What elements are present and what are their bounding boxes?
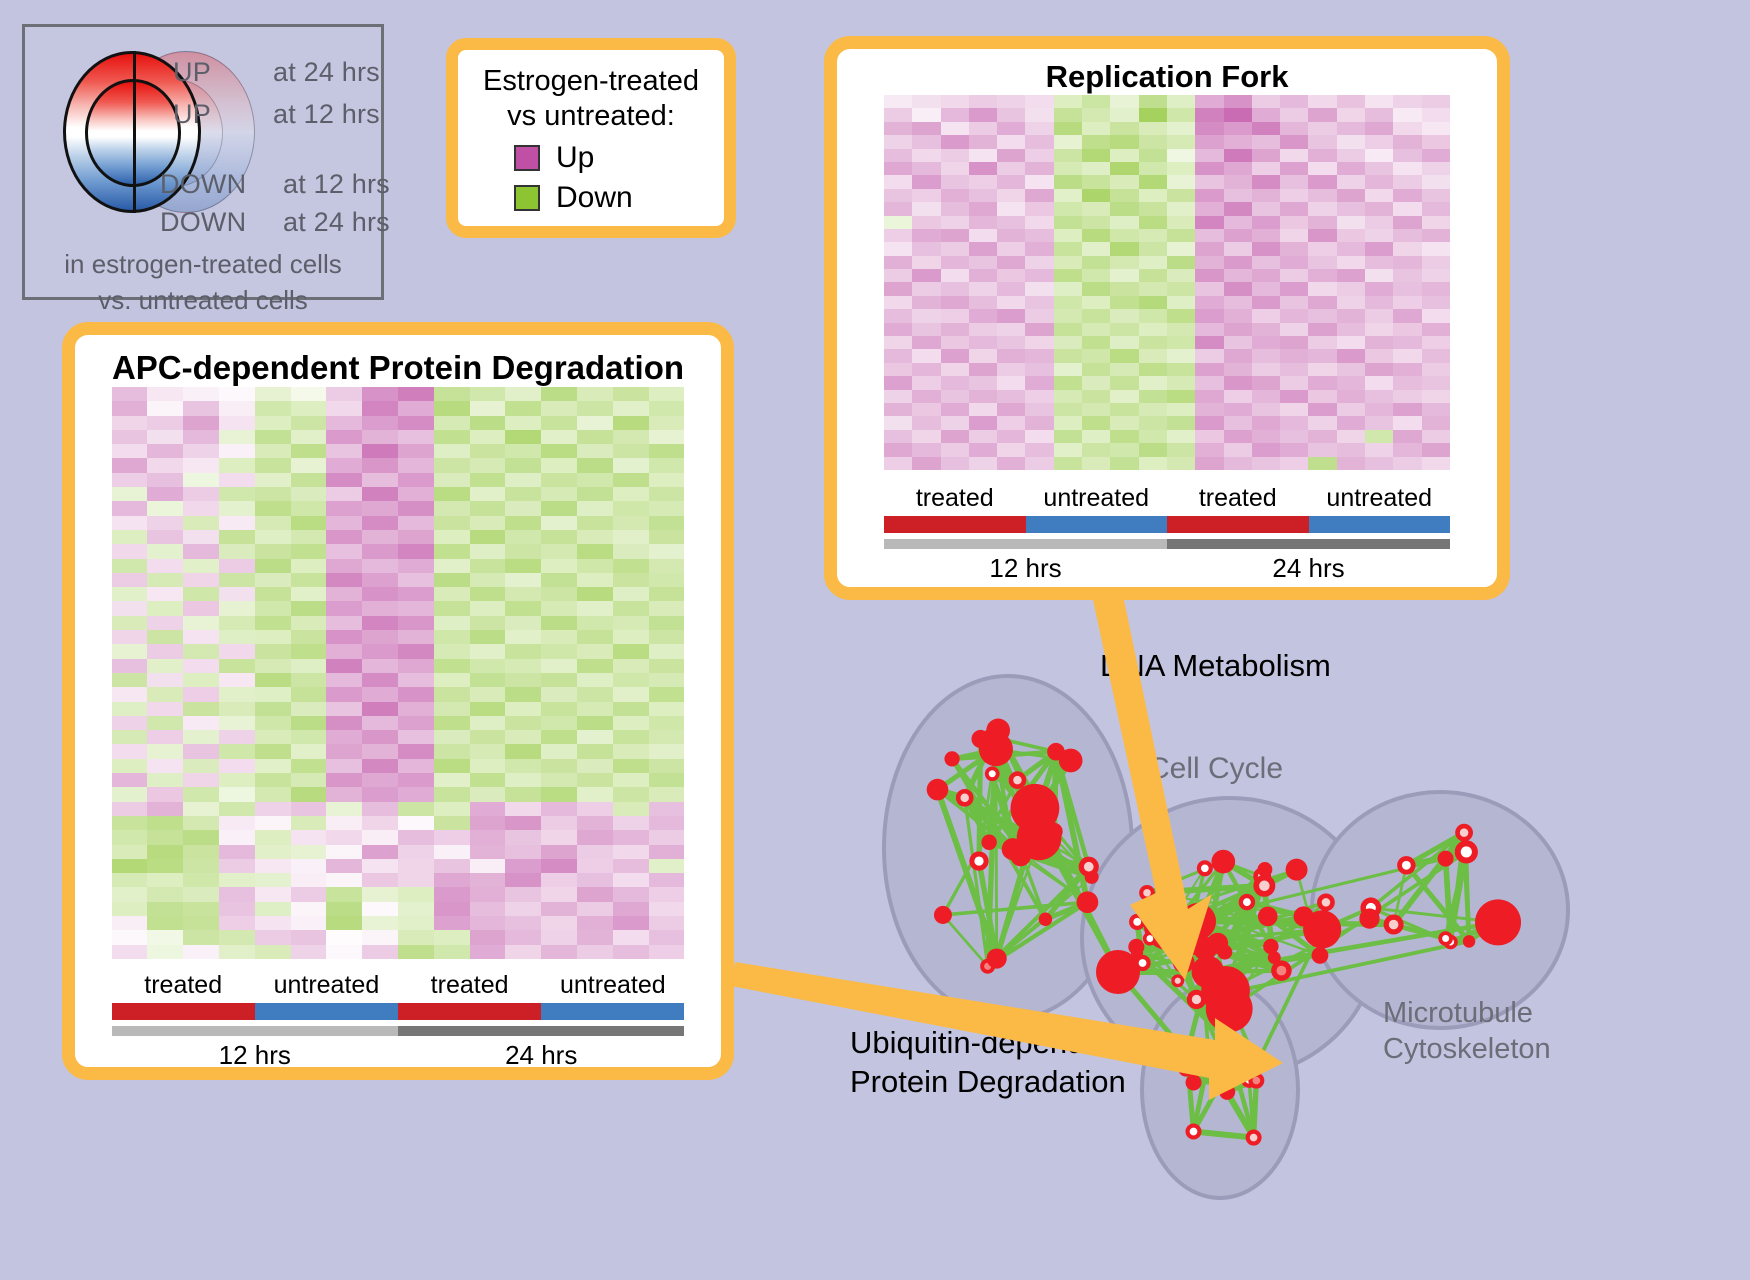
cluster-label-microtubule-line2: Cytoskeleton — [1383, 1031, 1551, 1067]
heatmap-cell — [291, 487, 327, 501]
heatmap-cell — [470, 773, 506, 787]
heatmap-cell — [577, 802, 613, 816]
heatmap-cell — [1422, 296, 1450, 309]
network-node — [1475, 899, 1521, 945]
heatmap-cell — [147, 687, 183, 701]
heatmap-cell — [613, 916, 649, 930]
heatmap-cell — [1025, 323, 1053, 336]
heatmap-cell — [1167, 403, 1195, 416]
time-bar-segment — [112, 1026, 398, 1036]
heatmap-cell — [326, 444, 362, 458]
heatmap-cell — [577, 501, 613, 515]
heatmap-cell — [1025, 175, 1053, 188]
heatmap-cell — [291, 630, 327, 644]
heatmap-cell — [183, 687, 219, 701]
heatmap-cell — [470, 887, 506, 901]
heatmap-cell — [884, 349, 912, 362]
heatmap-cell — [147, 501, 183, 515]
heatmap-cell — [1082, 269, 1110, 282]
heatmap-cell — [1195, 122, 1223, 135]
heatmap-cell — [1082, 376, 1110, 389]
heatmap-cell — [505, 816, 541, 830]
heatmap-cell — [1195, 309, 1223, 322]
heatmap-cell — [577, 644, 613, 658]
heatmap-cell — [1422, 390, 1450, 403]
heatmap-cell — [1082, 403, 1110, 416]
heatmap-cell — [1167, 376, 1195, 389]
heatmap-cell — [219, 816, 255, 830]
heatmap-cell — [1337, 430, 1365, 443]
heatmap-cell — [147, 616, 183, 630]
heatmap-cell — [1167, 457, 1195, 470]
heatmap-cell — [219, 559, 255, 573]
heatmap-cell — [1252, 269, 1280, 282]
heatmap-cell — [1139, 242, 1167, 255]
network-node — [969, 851, 988, 870]
heatmap-cell — [1365, 296, 1393, 309]
heatmap-cell — [1054, 376, 1082, 389]
cluster-label-ubiquitin-line1: Ubiquitin-dependent — [850, 1024, 1128, 1063]
heatmap-cell — [1082, 282, 1110, 295]
heatmap-cell — [470, 902, 506, 916]
heatmap-cell — [183, 773, 219, 787]
heatmap-cell — [941, 363, 969, 376]
heatmap-cell — [1195, 202, 1223, 215]
heatmap-cell — [1337, 349, 1365, 362]
heatmap-cell — [1224, 457, 1252, 470]
network-node — [1179, 903, 1216, 940]
heatmap-cell — [434, 787, 470, 801]
heatmap-cell — [649, 401, 685, 415]
heatmap-cell — [255, 473, 291, 487]
heatmap-cell — [219, 630, 255, 644]
heatmap-cell — [1308, 390, 1336, 403]
heatmap-cell — [1025, 349, 1053, 362]
heatmap-cell — [183, 730, 219, 744]
heatmap-cell — [1195, 336, 1223, 349]
heatmap-cell — [326, 487, 362, 501]
heatmap-cell — [577, 816, 613, 830]
heatmap-cell — [941, 443, 969, 456]
heatmap-cell — [291, 673, 327, 687]
heatmap-cell — [969, 390, 997, 403]
heatmap-cell — [505, 387, 541, 401]
heatmap-cell — [1280, 336, 1308, 349]
heatmap-cell — [1139, 323, 1167, 336]
heatmap-cell — [541, 458, 577, 472]
heatmap-cell — [1195, 242, 1223, 255]
heatmap-cell — [326, 816, 362, 830]
heatmap-cell — [577, 401, 613, 415]
heatmap-cell — [1422, 135, 1450, 148]
heatmap-cell — [255, 458, 291, 472]
heatmap-cell — [291, 773, 327, 787]
ring-state-down-24: DOWN — [160, 207, 246, 238]
heatmap-cell — [1280, 390, 1308, 403]
heatmap-cell — [255, 601, 291, 615]
heatmap-cell — [434, 573, 470, 587]
heatmap-cell — [1365, 122, 1393, 135]
heatmap-cell — [1054, 323, 1082, 336]
ring-state-up-12: UP — [173, 99, 211, 130]
heatmap-cell — [577, 845, 613, 859]
heatmap-cell — [147, 659, 183, 673]
heatmap-cell — [147, 416, 183, 430]
axis-group-label: untreated — [1026, 484, 1168, 513]
heatmap-cell — [470, 687, 506, 701]
heatmap-cell — [147, 916, 183, 930]
heatmap-cell — [362, 644, 398, 658]
heatmap-cell — [649, 673, 685, 687]
heatmap-cell — [1365, 457, 1393, 470]
network-node — [1438, 931, 1453, 946]
heatmap-cell — [147, 473, 183, 487]
heatmap-cell — [884, 189, 912, 202]
heatmap-cell — [255, 487, 291, 501]
heatmap-cell — [649, 458, 685, 472]
heatmap-cell — [147, 630, 183, 644]
heatmap-cell — [362, 387, 398, 401]
heatmap-cell — [398, 759, 434, 773]
heatmap-cell — [1280, 175, 1308, 188]
heatmap-cell — [969, 323, 997, 336]
heatmap-cell — [362, 887, 398, 901]
heatmap-cell — [912, 229, 940, 242]
heatmap-cell — [1252, 443, 1280, 456]
heatmap-cell — [112, 873, 148, 887]
heatmap-cell — [470, 573, 506, 587]
heatmap-cell — [183, 759, 219, 773]
heatmap-cell — [1308, 443, 1336, 456]
heatmap-cell — [1167, 95, 1195, 108]
group-bar-segment — [884, 516, 1026, 533]
heatmap-cell — [541, 787, 577, 801]
heatmap-cell — [470, 816, 506, 830]
heatmap-cell — [362, 687, 398, 701]
heatmap-cell — [112, 401, 148, 415]
heatmap-cell — [941, 95, 969, 108]
heatmap-cell — [1025, 149, 1053, 162]
heatmap-cell — [147, 702, 183, 716]
heatmap-cell — [112, 473, 148, 487]
heatmap-cell — [912, 149, 940, 162]
heatmap-cell — [1082, 175, 1110, 188]
heatmap-cell — [997, 95, 1025, 108]
heatmap-cell — [112, 845, 148, 859]
network-node — [956, 789, 974, 807]
heatmap-cell — [291, 659, 327, 673]
heatmap-cell — [291, 702, 327, 716]
heatmap-cell — [362, 759, 398, 773]
heatmap-cell — [398, 444, 434, 458]
heatmap-cell — [1110, 202, 1138, 215]
heatmap-cell — [362, 702, 398, 716]
heatmap-cell — [470, 859, 506, 873]
heatmap-cell — [997, 256, 1025, 269]
heatmap-cell — [1110, 430, 1138, 443]
heatmap-cell — [434, 887, 470, 901]
heatmap-cell — [183, 744, 219, 758]
network-node — [1009, 771, 1027, 789]
network-node — [944, 751, 959, 766]
heatmap-cell — [470, 702, 506, 716]
heatmap-cell — [291, 687, 327, 701]
heatmap-cell — [183, 616, 219, 630]
heatmap-cell — [1337, 108, 1365, 121]
heatmap-cell — [291, 816, 327, 830]
heatmap-cell — [884, 323, 912, 336]
heatmap-cell — [470, 644, 506, 658]
heatmap-cell — [1025, 95, 1053, 108]
heatmap-cell — [470, 659, 506, 673]
heatmap-cell — [1054, 296, 1082, 309]
heatmap-cell — [434, 859, 470, 873]
heatmap-cell — [912, 282, 940, 295]
heatmap-cell — [326, 787, 362, 801]
heatmap-cell — [1025, 229, 1053, 242]
heatmap-cell — [649, 630, 685, 644]
heatmap-cell — [1224, 376, 1252, 389]
heatmap-cell — [291, 430, 327, 444]
heatmap-cell — [577, 930, 613, 944]
heatmap-cell — [649, 716, 685, 730]
heatmap-cell — [969, 242, 997, 255]
heatmap-cell — [219, 859, 255, 873]
heatmap-cell — [1422, 323, 1450, 336]
heatmap-cell — [649, 601, 685, 615]
heatmap-cell — [470, 587, 506, 601]
heatmap-cell — [1252, 135, 1280, 148]
heatmap-cell — [1054, 162, 1082, 175]
heatmap-cell — [969, 162, 997, 175]
heatmap-cell — [884, 122, 912, 135]
network-node — [1397, 856, 1415, 874]
heatmap-cell — [1252, 457, 1280, 470]
heatmap-cell — [1054, 390, 1082, 403]
heatmap-cell — [398, 673, 434, 687]
heatmap-cell — [470, 601, 506, 615]
heatmap-cell — [1054, 229, 1082, 242]
heatmap-cell — [1422, 443, 1450, 456]
network-node — [987, 948, 1007, 968]
heatmap-cell — [1082, 309, 1110, 322]
heatmap-cell — [541, 845, 577, 859]
heatmap-cell — [969, 108, 997, 121]
heatmap-cell — [541, 530, 577, 544]
heatmap-cell — [577, 630, 613, 644]
heatmap-cell — [1280, 430, 1308, 443]
heatmap-cell — [541, 916, 577, 930]
heatmap-cell — [1224, 430, 1252, 443]
heatmap-cell — [255, 716, 291, 730]
heatmap-cell — [398, 687, 434, 701]
heatmap-cell — [470, 945, 506, 959]
network-node — [1187, 990, 1206, 1009]
heatmap-cell — [147, 716, 183, 730]
heatmap-cell — [541, 416, 577, 430]
heatmap-cell — [577, 873, 613, 887]
heatmap-cell — [649, 473, 685, 487]
heatmap-cell — [1252, 149, 1280, 162]
heatmap-cell — [1252, 336, 1280, 349]
heatmap-cell — [1422, 256, 1450, 269]
heatmap-cell — [912, 376, 940, 389]
heatmap-cell — [326, 702, 362, 716]
heatmap-cell — [398, 630, 434, 644]
heatmap-cell — [997, 242, 1025, 255]
heatmap-cell — [1195, 457, 1223, 470]
heatmap-cell — [219, 401, 255, 415]
heatmap-cell — [1337, 242, 1365, 255]
heatmap-cell — [941, 323, 969, 336]
heatmap-cell — [1365, 282, 1393, 295]
heatmap-cell — [541, 501, 577, 515]
heatmap-cell — [505, 859, 541, 873]
heatmap-cell — [1167, 390, 1195, 403]
heatmap-cell — [219, 458, 255, 472]
heatmap-cell — [219, 501, 255, 515]
heatmap-cell — [649, 616, 685, 630]
network-node — [1192, 1050, 1208, 1066]
heatmap-cell — [1110, 363, 1138, 376]
heatmap-cell — [362, 802, 398, 816]
heatmap-cell — [1252, 416, 1280, 429]
heatmap-cell — [1393, 376, 1421, 389]
heatmap-cell — [398, 845, 434, 859]
heatmap-cell — [1139, 175, 1167, 188]
ring-state-down-12: DOWN — [160, 169, 246, 200]
heatmap-cell — [398, 744, 434, 758]
heatmap-cell — [255, 759, 291, 773]
heatmap-cell — [183, 873, 219, 887]
heatmap-cell — [649, 530, 685, 544]
heatmap-cell — [1167, 416, 1195, 429]
heatmap-cell — [884, 175, 912, 188]
heatmap-cell — [112, 744, 148, 758]
heatmap-cell — [291, 873, 327, 887]
heatmap-cell — [398, 559, 434, 573]
heatmap-cell — [1224, 282, 1252, 295]
heatmap-cell — [326, 630, 362, 644]
heatmap-cell — [1422, 149, 1450, 162]
heatmap-cell — [1337, 309, 1365, 322]
heatmap-cell — [112, 501, 148, 515]
heatmap-cell — [505, 559, 541, 573]
heatmap-cell — [1337, 363, 1365, 376]
network-node — [1079, 857, 1099, 877]
heatmap-cell — [1224, 363, 1252, 376]
heatmap-cell — [219, 702, 255, 716]
heatmap-cell — [1252, 175, 1280, 188]
heatmap-cell — [997, 376, 1025, 389]
heatmap-cell — [1167, 135, 1195, 148]
heatmap-cell — [470, 544, 506, 558]
heatmap-cell — [1337, 229, 1365, 242]
heatmap-cell — [1365, 202, 1393, 215]
heatmap-cell — [1422, 95, 1450, 108]
heatmap-cell — [1195, 229, 1223, 242]
cluster-label-ubiquitin: Ubiquitin-dependent Protein Degradation — [850, 1024, 1128, 1102]
heatmap-cell — [1422, 229, 1450, 242]
heatmap-cell — [470, 487, 506, 501]
panel-apc-dependent-protein-degradation: APC-dependent Protein Degradation treate… — [62, 322, 734, 1080]
heatmap-cell — [112, 816, 148, 830]
heatmap-cell — [912, 309, 940, 322]
heatmap-cell — [613, 787, 649, 801]
heatmap-cell — [1110, 135, 1138, 148]
heatmap-cell — [1110, 416, 1138, 429]
heatmap-cell — [912, 95, 940, 108]
heatmap-cell — [147, 458, 183, 472]
heatmap-cell — [434, 559, 470, 573]
heatmap-cell — [326, 902, 362, 916]
heatmap-cell — [362, 773, 398, 787]
heatmap-cell — [1025, 336, 1053, 349]
heatmap-cell — [326, 730, 362, 744]
heatmap-cell — [505, 845, 541, 859]
heatmap-cell — [1110, 95, 1138, 108]
heatmap-cell — [613, 730, 649, 744]
heatmap-cell — [941, 309, 969, 322]
heatmap-cell — [505, 887, 541, 901]
heatmap-cell — [577, 945, 613, 959]
heatmap-cell — [541, 730, 577, 744]
heatmap-cell — [470, 444, 506, 458]
heatmap-cell — [434, 702, 470, 716]
axis-group-bar-rf — [884, 516, 1450, 533]
heatmap-cell — [112, 644, 148, 658]
heatmap-cell — [398, 387, 434, 401]
heatmap-cell — [577, 916, 613, 930]
network-node — [1139, 885, 1155, 901]
heatmap-cell — [1224, 403, 1252, 416]
heatmap-cell — [326, 930, 362, 944]
heatmap-cell — [613, 644, 649, 658]
heatmap-cell — [362, 573, 398, 587]
heatmap-cell — [398, 702, 434, 716]
heatmap-cell — [112, 787, 148, 801]
heatmap-cell — [941, 457, 969, 470]
heatmap-cell — [541, 945, 577, 959]
heatmap-cell — [219, 544, 255, 558]
network-node — [1246, 1050, 1262, 1066]
heatmap-cell — [941, 216, 969, 229]
heatmap-cell — [147, 516, 183, 530]
colorbar-caption-line2: vs. untreated cells — [25, 285, 381, 316]
heatmap-cell — [1025, 443, 1053, 456]
heatmap-cell — [326, 601, 362, 615]
heatmap-cell — [1025, 376, 1053, 389]
heatmap-cell — [398, 587, 434, 601]
heatmap-cell — [1110, 229, 1138, 242]
heatmap-cell — [884, 363, 912, 376]
group-bar-segment — [112, 1003, 255, 1020]
heatmap-cell — [112, 716, 148, 730]
heatmap-cell — [969, 216, 997, 229]
heatmap-cell — [912, 457, 940, 470]
heatmap-cell — [147, 387, 183, 401]
heatmap-cell — [1337, 149, 1365, 162]
network-node — [1312, 947, 1329, 964]
heatmap-cell — [291, 587, 327, 601]
heatmap-cell — [1082, 323, 1110, 336]
heatmap-cell — [291, 401, 327, 415]
heatmap-cell — [470, 430, 506, 444]
heatmap-cell — [1365, 175, 1393, 188]
heatmap-cell — [912, 256, 940, 269]
heatmap-cell — [577, 730, 613, 744]
heatmap-cell — [183, 644, 219, 658]
